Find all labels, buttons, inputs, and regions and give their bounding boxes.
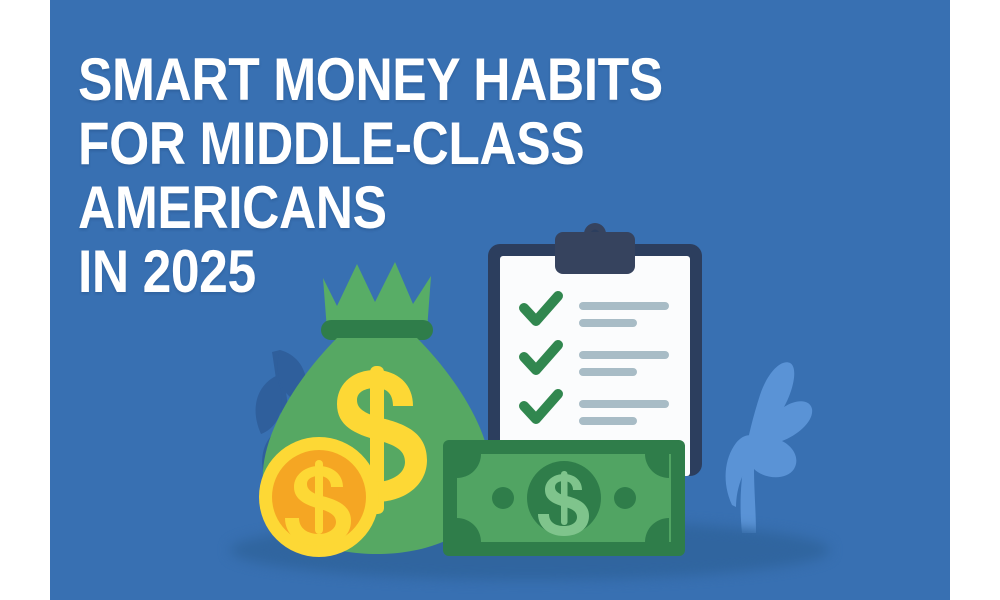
headline-line-4: IN 2025 <box>78 240 680 304</box>
banknote-dot-right <box>614 487 636 509</box>
headline-line-2: FOR MIDDLE-CLASS <box>78 112 680 176</box>
dollar-banknote-icon <box>443 440 685 556</box>
headline-line-1: SMART MONEY HABITS <box>78 48 680 112</box>
leaf-decoration-icon <box>698 355 818 535</box>
gold-coin-icon <box>258 436 380 558</box>
headline-line-3: AMERICANS <box>78 176 680 240</box>
banknote-dot-left <box>492 487 514 509</box>
page-title: SMART MONEY HABITS FOR MIDDLE-CLASS AMER… <box>78 48 778 304</box>
banner-graphic: SMART MONEY HABITS FOR MIDDLE-CLASS AMER… <box>0 0 1000 600</box>
